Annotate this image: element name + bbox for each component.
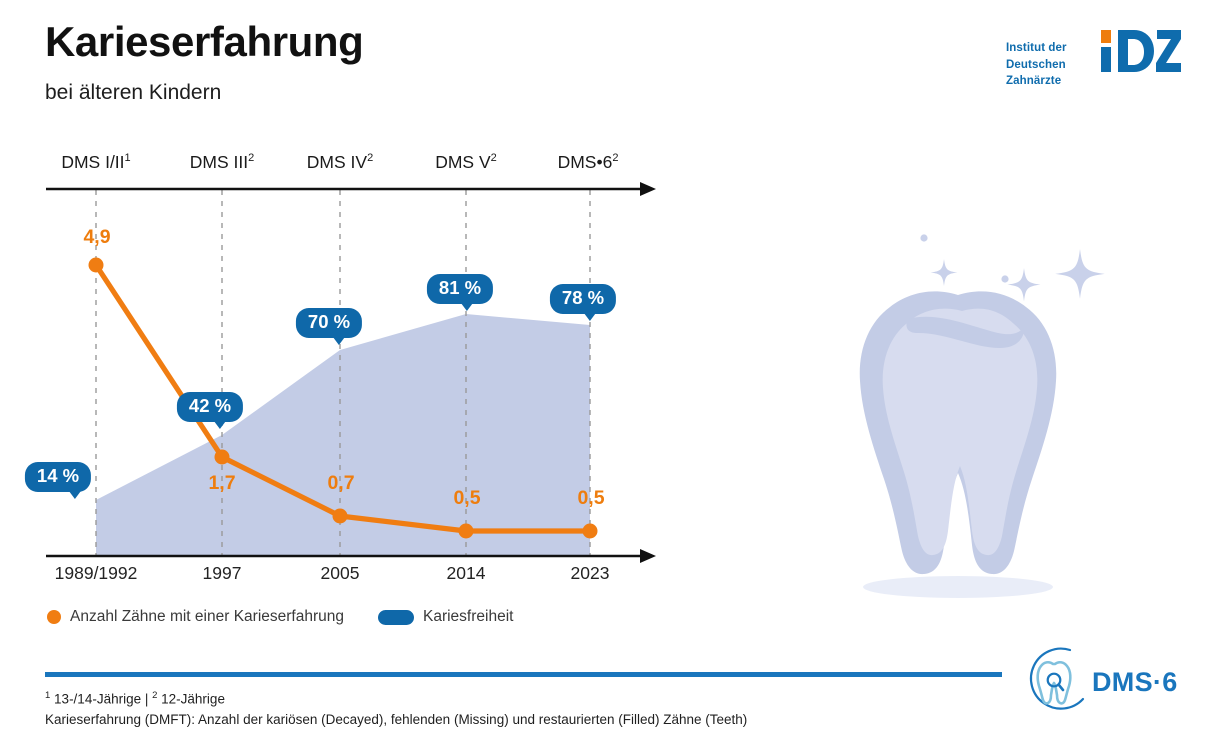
footnotes: 1 13-/14-Jährige | 2 12-Jährige Karieser… [45, 689, 747, 731]
dmft-value-1997: 1,7 [208, 472, 235, 495]
legend-label-karieserfahrung: Anzahl Zähne mit einer Karieserfahrung [70, 608, 344, 626]
kariesfreiheit-badge-1997: 42 % [177, 392, 243, 422]
badge-text: 14 % [37, 465, 79, 486]
infographic-page: Karieserfahrung bei älteren Kindern Inst… [0, 0, 1208, 754]
tooth-shadow [863, 576, 1053, 598]
footnote-age-groups: 1 13-/14-Jährige | 2 12-Jährige [45, 689, 747, 710]
kariesfreiheit-badge-1989-1992: 14 % [25, 462, 91, 492]
footer-divider [45, 672, 1002, 677]
kariesfreiheit-badge-2014: 81 % [427, 274, 493, 304]
dms6-magnifier-handle-icon [1059, 685, 1063, 690]
footnote-dmft-definition: Karieserfahrung (DMFT): Anzahl der kariö… [45, 710, 747, 731]
sparkle-icon [931, 259, 958, 286]
legend-dot-icon [47, 610, 61, 624]
dmft-value-1989-1992: 4,9 [83, 226, 110, 249]
idz-logo: Institut der Deutschen Zahnärzte [1006, 28, 1181, 83]
data-point [89, 258, 104, 273]
tooth-illustration [812, 215, 1142, 605]
sparkle-icon [1055, 249, 1105, 299]
dmft-value-2014: 0,5 [453, 487, 480, 510]
badge-tail-icon [214, 421, 226, 429]
sparkle-dot-icon [1001, 275, 1008, 282]
sparkles-group [920, 234, 1104, 301]
badge-text: 81 % [439, 277, 481, 298]
chart-legend: Anzahl Zähne mit einer Karieserfahrung K… [47, 608, 513, 626]
badge-text: 78 % [562, 287, 604, 308]
idz-logo-wordmark: Institut der Deutschen Zahnärzte [1006, 40, 1098, 90]
top-axis [46, 182, 656, 196]
dmft-value-2023: 0,5 [577, 487, 604, 510]
idz-logo-line1: Institut der [1006, 40, 1098, 57]
data-point [583, 524, 598, 539]
idz-monogram-icon [1101, 28, 1181, 74]
sparkle-icon [1008, 268, 1041, 301]
dmft-value-2005: 0,7 [327, 472, 354, 495]
legend-item-karieserfahrung: Anzahl Zähne mit einer Karieserfahrung [47, 608, 344, 626]
data-point [333, 509, 348, 524]
legend-pill-icon [378, 610, 414, 625]
kariesfreiheit-badge-2023: 78 % [550, 284, 616, 314]
dms6-logo-svg: DMS·6 [1014, 641, 1190, 719]
badge-text: 42 % [189, 395, 231, 416]
sparkle-dot-icon [920, 234, 927, 241]
dms6-logo: DMS·6 [1014, 641, 1190, 719]
badge-tail-icon [461, 303, 473, 311]
idz-logo-line2: Deutschen Zahnärzte [1006, 57, 1098, 90]
badge-tail-icon [69, 491, 81, 499]
legend-item-kariesfreiheit: Kariesfreiheit [378, 608, 513, 626]
dms6-wordmark: DMS·6 [1092, 667, 1178, 697]
karies-chart: DMS I/II1 DMS III2 DMS IV2 DMS V2 DMS•62… [0, 0, 700, 600]
data-point [459, 524, 474, 539]
legend-label-kariesfreiheit: Kariesfreiheit [423, 608, 513, 626]
dms6-tooth-icon [1038, 662, 1071, 703]
badge-text: 70 % [308, 311, 350, 332]
badge-tail-icon [333, 337, 345, 345]
kariesfreiheit-badge-2005: 70 % [296, 308, 362, 338]
data-point [215, 450, 230, 465]
badge-tail-icon [584, 313, 596, 321]
